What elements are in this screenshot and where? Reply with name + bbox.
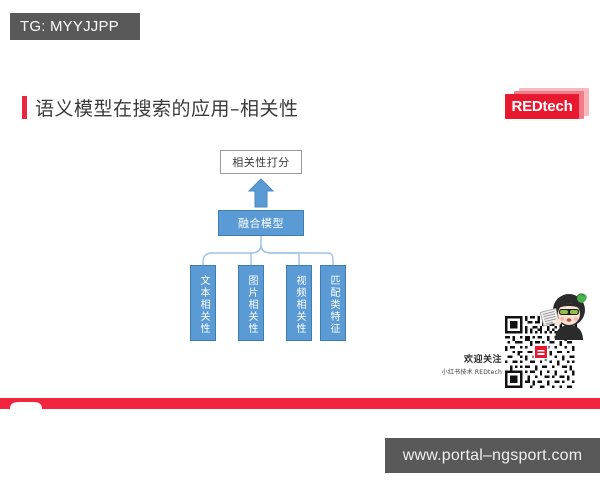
follow-us-headline: 欢迎关注 (440, 352, 502, 365)
diagram-node-video-relevance: 视频相关性 (286, 265, 312, 341)
title-accent-bar (22, 96, 27, 119)
diagram-node-image-relevance: 图片相关性 (238, 265, 264, 341)
bottom-red-bar (0, 398, 600, 409)
diagram-node-fusion-model: 融合模型 (218, 210, 304, 236)
diagram-node-match-features: 匹配类特征 (320, 265, 346, 341)
follow-us-block: 欢迎关注 小红书技术 REDtech (440, 352, 502, 376)
redtech-logo: REDtech (505, 88, 589, 122)
logo-label: REDtech (505, 94, 579, 119)
qr-code-block (505, 288, 591, 388)
mascot-icon (539, 288, 591, 340)
relevance-model-diagram: 相关性打分 融合模型 文本相关性 图片相关性 视频相关性 匹配类特征 (170, 145, 370, 370)
site-watermark: www.portal–ngsport.com (385, 438, 600, 473)
page-title: 语义模型在搜索的应用–相关性 (22, 95, 299, 119)
diagram-node-text-relevance: 文本相关性 (190, 265, 216, 341)
up-arrow-icon (248, 178, 274, 208)
follow-us-subline: 小红书技术 REDtech (440, 367, 502, 376)
tg-overlay-tag: TG: MYYJJPP (10, 13, 140, 40)
diagram-node-relevance-score: 相关性打分 (220, 150, 302, 174)
page-title-text: 语义模型在搜索的应用–相关性 (35, 94, 299, 121)
